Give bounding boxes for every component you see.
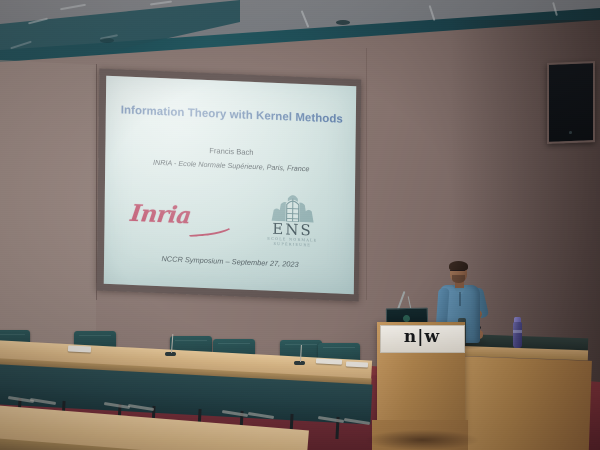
ceiling-vent	[336, 20, 350, 25]
presentation-slide: Information Theory with Kernel Methods F…	[104, 76, 356, 295]
presenter-shirt-placket	[459, 292, 461, 306]
slide-logos: Inria	[104, 184, 355, 257]
water-bottle-label	[513, 330, 522, 333]
ens-arch-icon	[268, 191, 318, 223]
inria-logo-text: Inria	[129, 200, 193, 229]
ceiling-vent	[100, 38, 114, 43]
presenter-beard	[452, 275, 465, 283]
desk-document	[346, 361, 368, 367]
inria-logo-swash-icon	[188, 220, 235, 237]
slide-title: Information Theory with Kernel Methods	[116, 104, 348, 126]
glasses-icon	[450, 270, 465, 274]
venue-logo: n|w	[390, 328, 454, 347]
desk-document	[68, 345, 91, 352]
water-bottle	[513, 322, 522, 348]
ens-logo: ENS ECOLE NORMALE SUPÉRIEURE	[254, 190, 331, 253]
lecture-hall-photo: Information Theory with Kernel Methods F…	[0, 0, 600, 450]
projection-screen: Information Theory with Kernel Methods F…	[104, 76, 356, 295]
wall-seam	[366, 48, 367, 300]
inria-logo: Inria	[126, 197, 232, 241]
wall-speaker	[547, 61, 595, 144]
laptop-badge-icon	[403, 315, 410, 322]
speaker-led-icon	[569, 131, 572, 134]
slide-footer: NCCR Symposium – September 27, 2023	[112, 252, 348, 271]
lectern-shadow	[366, 430, 478, 450]
left-wall-panel	[0, 60, 96, 350]
